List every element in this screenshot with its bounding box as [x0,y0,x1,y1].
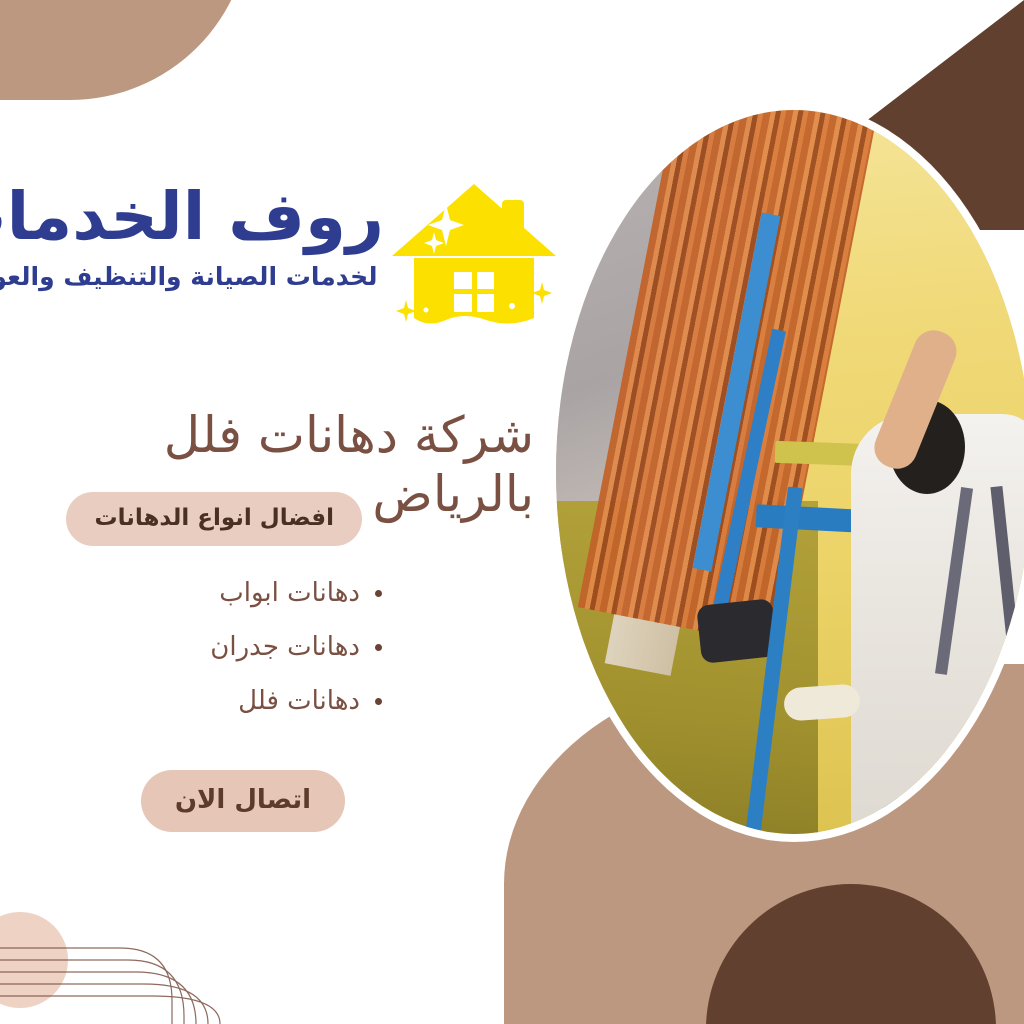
photo-tool-bag [696,599,778,665]
list-item: دهانات ابواب [210,580,382,606]
house-logo-icon [390,178,560,338]
brand-tagline: لخدمات الصيانة والتنظيف والعوازل [0,264,384,289]
list-item: دهانات جدران [210,634,382,660]
brand-name: روف الخدمات [0,184,384,250]
content-column: روف الخدمات لخدمات الصيانة والتنظيف والع… [0,0,560,1024]
poster-canvas: روف الخدمات لخدمات الصيانة والتنظيف والع… [0,0,1024,1024]
services-list: دهانات ابواب دهانات جدران دهانات فلل [210,580,382,742]
brand-logo[interactable]: روف الخدمات لخدمات الصيانة والتنظيف والع… [0,178,560,348]
photo-paint-tray [783,683,861,721]
hero-photo [556,110,1024,834]
brand-logo-text: روف الخدمات لخدمات الصيانة والتنظيف والع… [0,178,384,289]
list-item: دهانات فلل [210,688,382,714]
call-now-button[interactable]: اتصال الان [141,770,345,832]
hero-photo-content [556,110,1024,834]
status-badge: افضال انواع الدهانات [66,492,362,546]
